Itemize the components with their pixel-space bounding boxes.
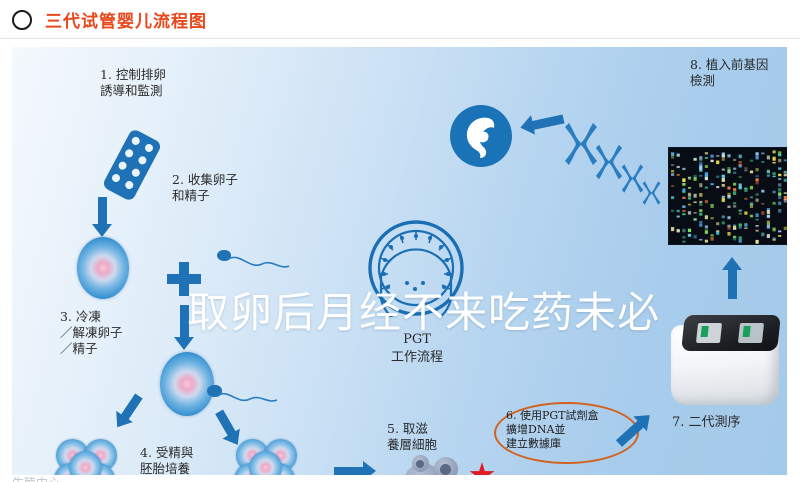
arrow-up-icon xyxy=(722,257,743,299)
chromosome-x-icon xyxy=(642,180,661,211)
arrow-down-icon xyxy=(92,197,113,237)
step-5-label: 5. 取滋 養層細胞 xyxy=(387,421,437,453)
fetus-circle-icon xyxy=(450,105,512,167)
dna-array-dots xyxy=(669,148,787,245)
arrow-right-icon xyxy=(334,461,376,475)
trophoblast-cell-icon xyxy=(404,455,466,475)
chromosome-x-icon xyxy=(621,163,644,199)
frozen-egg-icon xyxy=(77,237,129,299)
arrow-left-icon xyxy=(518,109,565,139)
page-title: 三代试管婴儿流程图 xyxy=(45,7,207,32)
flowchart-canvas: 1. 控制排卵 誘導和監測 3. 冷凍 ／解凍卵子 ／精子 2. 收集卵子 和精… xyxy=(12,47,787,475)
step-1-label: 1. 控制排卵 誘導和監測 xyxy=(100,67,166,99)
overlay-headline: 取卵后月经不来吃药未必 xyxy=(187,279,660,340)
bottom-caption: 生殖中心 xyxy=(12,474,60,482)
step-2-label: 2. 收集卵子 和精子 xyxy=(172,172,238,204)
step-4-label: 4. 受精與 胚胎培養 xyxy=(140,445,193,475)
pill-blister-icon xyxy=(101,128,162,202)
embryo-cluster-icon xyxy=(54,439,132,475)
step-8-label: 8. 植入前基因 檢測 xyxy=(690,57,768,89)
chromosome-x-icon xyxy=(564,121,598,172)
fertilized-egg-icon xyxy=(160,352,214,416)
chromosome-x-icon xyxy=(595,143,623,186)
step-3-label: 3. 冷凍 ／解凍卵子 ／精子 xyxy=(60,309,123,357)
sperm-tail-icon xyxy=(228,254,290,280)
circle-outline-icon xyxy=(12,10,32,30)
pgt-title-line2: 工作流程 xyxy=(386,350,448,366)
step-6-label: 6. 使用PGT試劑盒 擴增DNA並 建立數據庫 xyxy=(506,409,634,451)
screenshot-root: 三代试管婴儿流程图 1. 控制排卵 誘導和監測 3. 冷凍 ／解凍卵子 ／精子 … xyxy=(0,0,800,482)
page-header: 三代试管婴儿流程图 xyxy=(0,0,800,40)
dna-array-image xyxy=(668,147,787,245)
embryo-cluster-icon xyxy=(234,439,312,475)
sequencer-machine-icon xyxy=(665,309,785,407)
step-7-label: 7. 二代測序 xyxy=(672,415,741,431)
red-star-marker xyxy=(469,462,495,475)
header-divider xyxy=(0,38,800,39)
